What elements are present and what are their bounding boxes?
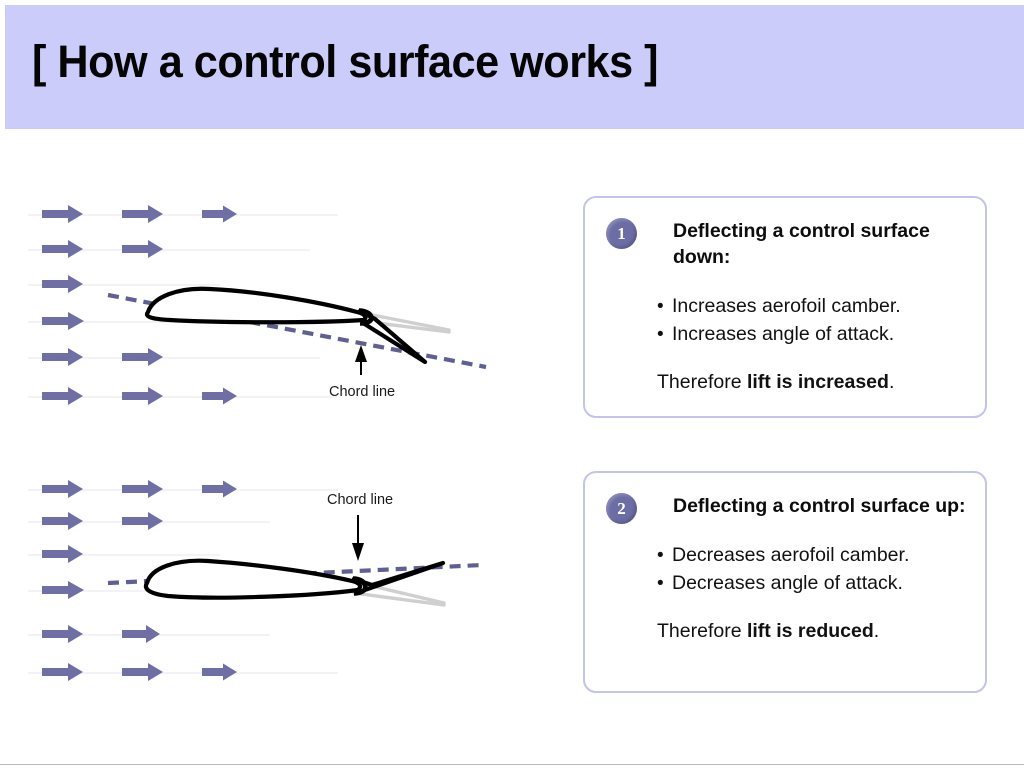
diagram-aerofoil-flap-up: Chord line bbox=[20, 465, 540, 695]
callout-2-bullet-list: Decreases aerofoil camber. Decreases ang… bbox=[657, 542, 985, 598]
callout-1-bullet-list: Increases aerofoil camber. Increases ang… bbox=[657, 293, 985, 349]
airflow-arrow bbox=[42, 663, 83, 681]
airflow-arrow bbox=[202, 388, 237, 405]
conclusion-suffix: . bbox=[874, 620, 879, 642]
airflow-arrow bbox=[42, 348, 83, 366]
aerofoil-body bbox=[147, 289, 365, 323]
airflow-arrow bbox=[42, 275, 83, 293]
airflow-arrow bbox=[42, 625, 83, 643]
page-title: [ How a control surface works ] bbox=[32, 36, 658, 88]
callout-1-conclusion: Therefore lift is increased. bbox=[657, 371, 985, 394]
airflow-arrow bbox=[42, 387, 83, 405]
footer-rule bbox=[0, 764, 1024, 765]
step-number-badge-2: 2 bbox=[606, 493, 637, 524]
callout-2-body: Decreases aerofoil camber. Decreases ang… bbox=[657, 520, 985, 643]
airflow-arrow bbox=[122, 663, 163, 681]
callout-box-2: 2 Deflecting a control surface up: Decre… bbox=[583, 471, 987, 693]
airflow-arrow bbox=[42, 581, 84, 599]
chord-line-callout: Chord line bbox=[327, 492, 393, 561]
chord-line-callout: Chord line bbox=[329, 345, 395, 400]
airflow-arrow bbox=[122, 240, 163, 258]
chord-line-label: Chord line bbox=[329, 384, 395, 400]
list-item: Decreases aerofoil camber. bbox=[657, 542, 985, 570]
chord-label-arrowhead bbox=[355, 345, 367, 362]
conclusion-suffix: . bbox=[889, 371, 894, 393]
callout-2-title: Deflecting a control surface up: bbox=[673, 493, 985, 520]
step-number-badge-1: 1 bbox=[606, 218, 637, 249]
callout-1-body: Increases aerofoil camber. Increases ang… bbox=[657, 271, 985, 394]
airflow-arrow bbox=[42, 312, 84, 330]
list-item: Decreases angle of attack. bbox=[657, 570, 985, 598]
conclusion-prefix: Therefore bbox=[657, 371, 747, 393]
airflow-arrow bbox=[202, 664, 237, 681]
callout-box-1: 1 Deflecting a control surface down: Inc… bbox=[583, 196, 987, 418]
conclusion-prefix: Therefore bbox=[657, 620, 747, 642]
airflow-arrow bbox=[42, 545, 83, 563]
airflow-arrow bbox=[42, 240, 83, 258]
airflow-arrow bbox=[122, 512, 163, 530]
airflow-arrow bbox=[122, 348, 163, 366]
conclusion-emphasis: lift is increased bbox=[747, 371, 889, 393]
list-item: Increases aerofoil camber. bbox=[657, 293, 985, 321]
chord-line-label: Chord line bbox=[327, 492, 393, 508]
callout-1-title: Deflecting a control surface down: bbox=[673, 218, 985, 271]
airflow-arrow bbox=[122, 625, 160, 643]
airflow-arrow bbox=[122, 387, 163, 405]
airflow-arrow bbox=[42, 512, 83, 530]
diagram-aerofoil-flap-down: Chord line bbox=[20, 190, 540, 420]
airflow-arrow bbox=[122, 205, 163, 223]
callout-2-conclusion: Therefore lift is reduced. bbox=[657, 620, 985, 643]
slide-root: [ How a control surface works ] bbox=[0, 0, 1024, 769]
airflow-arrow bbox=[202, 481, 237, 498]
aerofoil-body bbox=[146, 561, 360, 598]
chord-label-arrowhead bbox=[352, 543, 364, 561]
airflow-arrow bbox=[202, 206, 237, 223]
airflow-arrow bbox=[122, 480, 163, 498]
callout-2-head: 2 Deflecting a control surface up: bbox=[585, 473, 985, 520]
airflow-arrow bbox=[42, 480, 83, 498]
airflow-arrow bbox=[42, 205, 83, 223]
conclusion-emphasis: lift is reduced bbox=[747, 620, 874, 642]
list-item: Increases angle of attack. bbox=[657, 321, 985, 349]
callout-1-head: 1 Deflecting a control surface down: bbox=[585, 198, 985, 271]
